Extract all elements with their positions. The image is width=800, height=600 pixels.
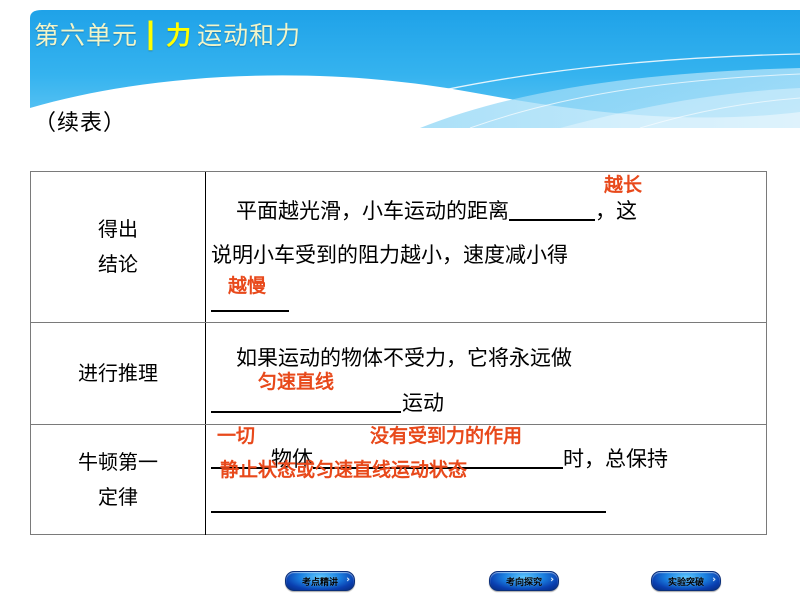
answer-annotation: 越长 — [604, 176, 642, 195]
row2-line2-tail: 运动 — [402, 393, 444, 414]
page-title: 第六单元┃力运动和力 — [34, 21, 301, 51]
nav-button-label: 考向探究 — [506, 575, 542, 588]
topic-sub-label: 运动和力 — [197, 21, 301, 50]
nav-button-kaodianjingjiang[interactable]: 考点精讲 › — [285, 571, 355, 591]
row-content-cell: 如果运动的物体不受力，它将永远做 匀速直线 运动 — [206, 323, 766, 424]
nav-button-shiyantupo[interactable]: 实验突破 › — [651, 571, 721, 591]
topic-key-label: 力 — [166, 21, 192, 50]
answer-blank — [509, 219, 595, 221]
answer-blank — [211, 511, 606, 513]
row-label-line: 定律 — [98, 480, 138, 515]
row-label-line: 进行推理 — [78, 356, 158, 391]
row-label-line: 牛顿第一 — [78, 445, 158, 480]
row-label-cell: 进行推理 — [31, 323, 206, 424]
row-content-cell: 物体时，总保持 一切 没有受到力的作用 静止状态或匀速直线运动状态 — [206, 425, 766, 535]
row1-line1-text: 平面越光滑，小车运动的距离，这 — [236, 201, 637, 222]
answer-annotation: 一切 — [217, 427, 255, 446]
answer-annotation: 静止状态或匀速直线运动状态 — [220, 461, 467, 480]
nav-button-label: 考点精讲 — [302, 575, 338, 588]
answer-annotation: 没有受到力的作用 — [370, 427, 522, 446]
table-row: 进行推理 如果运动的物体不受力，它将永远做 匀速直线 运动 — [31, 323, 766, 425]
answer-blank — [211, 411, 401, 413]
row1-line2-text: 说明小车受到的阻力越小，速度减小得 — [211, 245, 568, 266]
answer-blank — [211, 310, 289, 312]
row-label-line: 结论 — [98, 247, 138, 282]
row-label-line: 得出 — [98, 212, 138, 247]
chevron-right-icon: › — [550, 575, 554, 585]
unit-label: 第六单元 — [34, 21, 138, 50]
answer-annotation: 越慢 — [228, 277, 266, 296]
chevron-right-icon: › — [346, 575, 350, 585]
table-row: 牛顿第一 定律 物体时，总保持 一切 没有受到力的作用 静止状态或匀速直线运动状… — [31, 425, 766, 535]
continued-table-label: （续表） — [34, 105, 126, 137]
row-content-cell: 平面越光滑，小车运动的距离，这 越长 说明小车受到的阻力越小，速度减小得 越慢 — [206, 172, 766, 322]
nav-button-kaoxiangtanjiu[interactable]: 考向探究 › — [489, 571, 559, 591]
row-label-cell: 牛顿第一 定律 — [31, 425, 206, 535]
row-label-cell: 得出 结论 — [31, 172, 206, 322]
chevron-right-icon: › — [712, 575, 716, 585]
content-table: 得出 结论 平面越光滑，小车运动的距离，这 越长 说明小车受到的阻力越小，速度减… — [30, 171, 767, 535]
table-row: 得出 结论 平面越光滑，小车运动的距离，这 越长 说明小车受到的阻力越小，速度减… — [31, 172, 766, 323]
nav-button-label: 实验突破 — [668, 575, 704, 588]
row2-line1-text: 如果运动的物体不受力，它将永远做 — [236, 348, 572, 369]
title-divider-icon: ┃ — [143, 21, 159, 50]
answer-annotation: 匀速直线 — [258, 373, 334, 392]
